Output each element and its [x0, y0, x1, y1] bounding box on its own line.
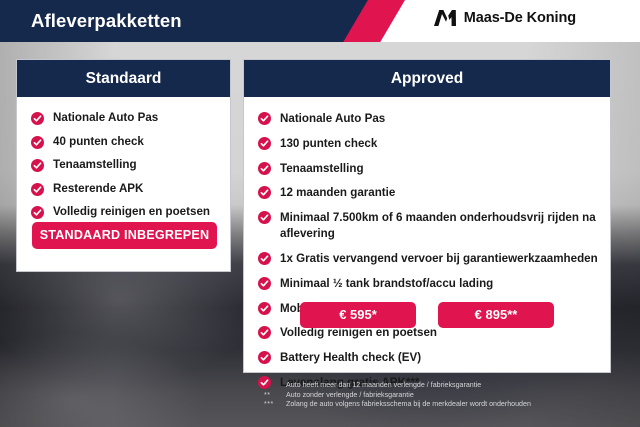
- price-button-595[interactable]: € 595*: [300, 302, 416, 328]
- list-item-label: 130 punten check: [280, 136, 377, 152]
- list-item: Tenaamstelling: [31, 158, 230, 172]
- footnote-text: Zolang de auto volgens fabrieksschema bi…: [286, 400, 531, 410]
- footnote-row: * Auto heeft meer dan 12 maanden verleng…: [264, 381, 531, 391]
- check-circle-icon: [258, 112, 271, 125]
- check-circle-icon: [258, 162, 271, 175]
- page-title: Afleverpakketten: [31, 10, 182, 32]
- price-button-895[interactable]: € 895**: [438, 302, 554, 328]
- list-item: Volledig reinigen en poetsen: [31, 205, 230, 219]
- list-item-label: Minimaal 7.500km of 6 maanden onderhouds…: [280, 210, 610, 242]
- check-circle-icon: [258, 326, 271, 339]
- list-item: Nationale Auto Pas: [31, 111, 230, 125]
- list-item-label: Tenaamstelling: [53, 158, 137, 172]
- list-item-label: Battery Health check (EV): [280, 350, 421, 366]
- list-item-label: 12 maanden garantie: [280, 185, 395, 201]
- check-circle-icon: [258, 351, 271, 364]
- list-item: Minimaal 7.500km of 6 maanden onderhouds…: [258, 210, 610, 242]
- list-item: 1x Gratis vervangend vervoer bij garanti…: [258, 251, 610, 267]
- list-item: Battery Health check (EV): [258, 350, 610, 366]
- page-header: Afleverpakketten Maas-De Koning: [0, 0, 640, 42]
- list-item-label: 1x Gratis vervangend vervoer bij garanti…: [280, 251, 598, 267]
- slide-canvas: Afleverpakketten Maas-De Koning Standaar…: [0, 0, 640, 427]
- check-circle-icon: [31, 112, 44, 125]
- list-item: Minimaal ½ tank brandstof/accu lading: [258, 276, 610, 292]
- footnote-row: ** Auto zonder verlengde / fabrieksgaran…: [264, 391, 531, 401]
- check-circle-icon: [258, 211, 271, 224]
- footnote-text: Auto zonder verlengde / fabrieksgarantie: [286, 391, 531, 401]
- footnote-row: *** Zolang de auto volgens fabrieksschem…: [264, 400, 531, 410]
- list-item: Nationale Auto Pas: [258, 111, 610, 127]
- list-item: 40 punten check: [31, 135, 230, 149]
- feature-list-standaard: Nationale Auto Pas 40 punten check Tenaa…: [31, 111, 230, 219]
- check-circle-icon: [31, 183, 44, 196]
- brand-lockup: Maas-De Koning: [433, 9, 576, 27]
- list-item-label: Volledig reinigen en poetsen: [53, 205, 210, 219]
- package-card-standaard: Standaard Nationale Auto Pas 40 punten c…: [16, 59, 231, 272]
- check-circle-icon: [258, 277, 271, 290]
- list-item: 12 maanden garantie: [258, 185, 610, 201]
- feature-list-approved: Nationale Auto Pas 130 punten check Tena…: [258, 111, 610, 391]
- footnote-marker: *: [264, 381, 286, 391]
- list-item-label: Nationale Auto Pas: [280, 111, 385, 127]
- maas-de-koning-logo-icon: [433, 9, 457, 27]
- package-card-approved: Approved Nationale Auto Pas 130 punten c…: [243, 59, 611, 373]
- list-item: Tenaamstelling: [258, 161, 610, 177]
- card-title-approved: Approved: [244, 60, 610, 97]
- list-item-label: Tenaamstelling: [280, 161, 364, 177]
- check-circle-icon: [258, 137, 271, 150]
- check-circle-icon: [258, 252, 271, 265]
- check-circle-icon: [258, 186, 271, 199]
- list-item-label: Nationale Auto Pas: [53, 111, 158, 125]
- list-item-label: Minimaal ½ tank brandstof/accu lading: [280, 276, 493, 292]
- standaard-inbegrepen-button[interactable]: STANDAARD INBEGREPEN: [32, 222, 217, 249]
- footnote-text: Auto heeft meer dan 12 maanden verlengde…: [286, 381, 531, 391]
- list-item: Resterende APK: [31, 182, 230, 196]
- check-circle-icon: [31, 136, 44, 149]
- list-item-label: 40 punten check: [53, 135, 144, 149]
- price-button-row: € 595* € 895**: [244, 302, 610, 328]
- check-circle-icon: [31, 206, 44, 219]
- brand-name: Maas-De Koning: [464, 10, 576, 26]
- check-circle-icon: [31, 159, 44, 172]
- footnote-marker: ***: [264, 400, 286, 410]
- footnote-marker: **: [264, 391, 286, 401]
- list-item: 130 punten check: [258, 136, 610, 152]
- footnotes: * Auto heeft meer dan 12 maanden verleng…: [264, 381, 531, 410]
- card-title-standaard: Standaard: [17, 60, 230, 97]
- list-item-label: Resterende APK: [53, 182, 143, 196]
